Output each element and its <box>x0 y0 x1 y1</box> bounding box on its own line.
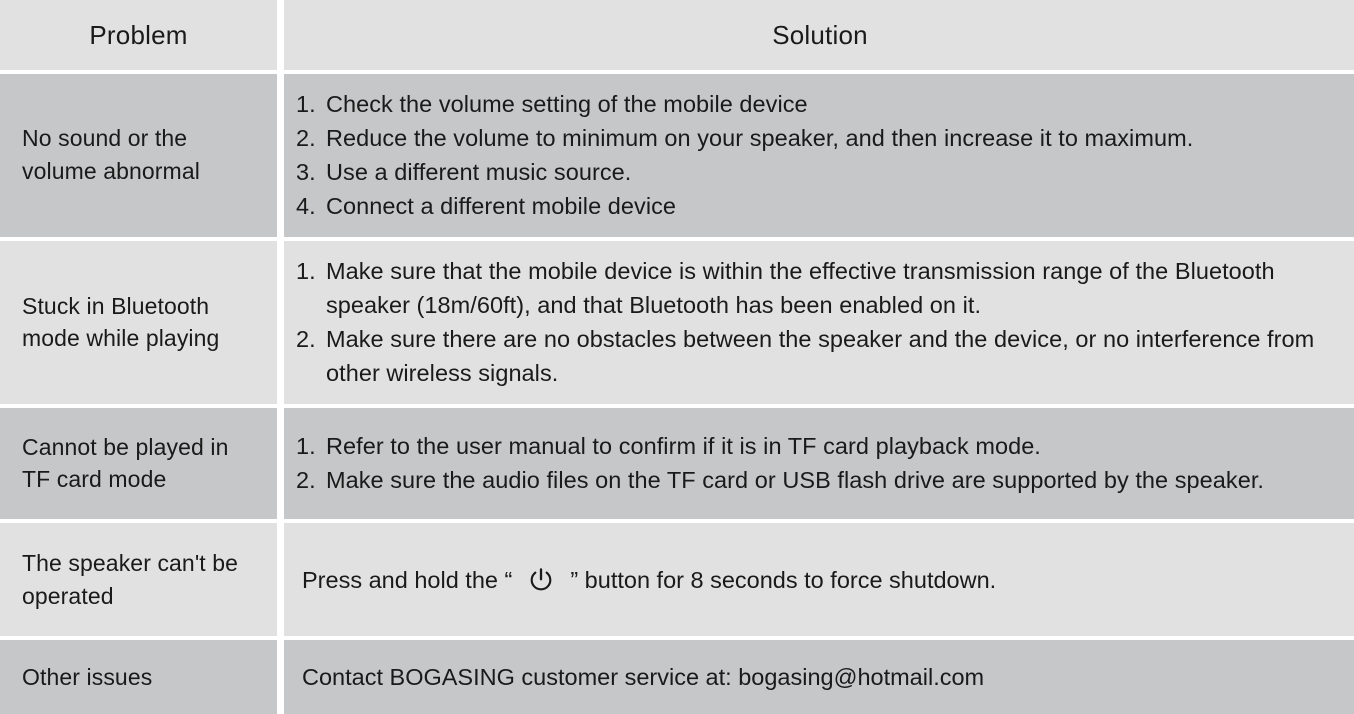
list-item-number: 1. <box>296 87 326 121</box>
solution-suffix-text: ” button for 8 seconds to force shutdown… <box>570 563 996 597</box>
column-gutter <box>277 74 284 237</box>
problem-cell: Stuck in Bluetooth mode while playing <box>0 241 277 404</box>
list-item: 2. Make sure there are no obstacles betw… <box>296 322 1338 390</box>
header-label-solution: Solution <box>772 21 868 50</box>
header-label-problem: Problem <box>89 21 187 50</box>
problem-text: Stuck in Bluetooth mode while playing <box>22 290 255 355</box>
problem-cell: Other issues <box>0 640 277 714</box>
table-row: The speaker can't be operated Press and … <box>0 523 1354 636</box>
list-item: 4. Connect a different mobile device <box>296 189 1338 223</box>
problem-text: Cannot be played in TF card mode <box>22 431 255 496</box>
troubleshooting-table: Problem Solution No sound or the volume … <box>0 0 1354 714</box>
list-item: 1. Make sure that the mobile device is w… <box>296 254 1338 322</box>
table-row: No sound or the volume abnormal 1. Check… <box>0 74 1354 237</box>
solution-list: 1. Make sure that the mobile device is w… <box>296 254 1338 390</box>
column-gutter <box>277 523 284 636</box>
problem-cell: No sound or the volume abnormal <box>0 74 277 237</box>
list-item-text: Make sure the audio files on the TF card… <box>326 463 1338 497</box>
list-item-text: Refer to the user manual to confirm if i… <box>326 429 1338 463</box>
list-item-number: 2. <box>296 463 326 497</box>
list-item-text: Reduce the volume to minimum on your spe… <box>326 121 1338 155</box>
solution-prefix-text: Press and hold the “ <box>302 563 512 597</box>
header-cell-problem: Problem <box>0 0 277 70</box>
list-item: 2. Reduce the volume to minimum on your … <box>296 121 1338 155</box>
list-item-text: Make sure there are no obstacles between… <box>326 322 1338 390</box>
problem-text: Other issues <box>22 661 152 694</box>
list-item-number: 2. <box>296 322 326 356</box>
list-item: 1. Refer to the user manual to confirm i… <box>296 429 1338 463</box>
list-item: 1. Check the volume setting of the mobil… <box>296 87 1338 121</box>
solution-sentence: Press and hold the “ ” button for 8 seco… <box>296 563 1338 597</box>
list-item-number: 1. <box>296 254 326 288</box>
solution-cell: Press and hold the “ ” button for 8 seco… <box>284 523 1354 636</box>
solution-cell: 1. Refer to the user manual to confirm i… <box>284 408 1354 519</box>
solution-list: 1. Refer to the user manual to confirm i… <box>296 429 1338 497</box>
header-cell-solution: Solution <box>284 0 1354 70</box>
list-item-text: Make sure that the mobile device is with… <box>326 254 1338 322</box>
table-row: Cannot be played in TF card mode 1. Refe… <box>0 408 1354 519</box>
list-item: 2. Make sure the audio files on the TF c… <box>296 463 1338 497</box>
column-gutter <box>277 241 284 404</box>
solution-cell: 1. Check the volume setting of the mobil… <box>284 74 1354 237</box>
list-item-number: 2. <box>296 121 326 155</box>
column-gutter <box>277 408 284 519</box>
table-header-row: Problem Solution <box>0 0 1354 70</box>
list-item-number: 4. <box>296 189 326 223</box>
list-item-number: 3. <box>296 155 326 189</box>
table-row: Stuck in Bluetooth mode while playing 1.… <box>0 241 1354 404</box>
solution-list: 1. Check the volume setting of the mobil… <box>296 87 1338 223</box>
power-icon <box>528 567 554 593</box>
problem-text: No sound or the volume abnormal <box>22 122 255 187</box>
problem-cell: Cannot be played in TF card mode <box>0 408 277 519</box>
problem-cell: The speaker can't be operated <box>0 523 277 636</box>
table-row: Other issues Contact BOGASING customer s… <box>0 640 1354 714</box>
list-item: 3. Use a different music source. <box>296 155 1338 189</box>
solution-cell: Contact BOGASING customer service at: bo… <box>284 640 1354 714</box>
list-item-text: Check the volume setting of the mobile d… <box>326 87 1338 121</box>
solution-contact-text: Contact BOGASING customer service at: bo… <box>296 660 1338 694</box>
solution-cell: 1. Make sure that the mobile device is w… <box>284 241 1354 404</box>
problem-text: The speaker can't be operated <box>22 547 255 612</box>
list-item-number: 1. <box>296 429 326 463</box>
column-gutter <box>277 640 284 714</box>
list-item-text: Connect a different mobile device <box>326 189 1338 223</box>
list-item-text: Use a different music source. <box>326 155 1338 189</box>
column-gutter <box>277 0 284 70</box>
